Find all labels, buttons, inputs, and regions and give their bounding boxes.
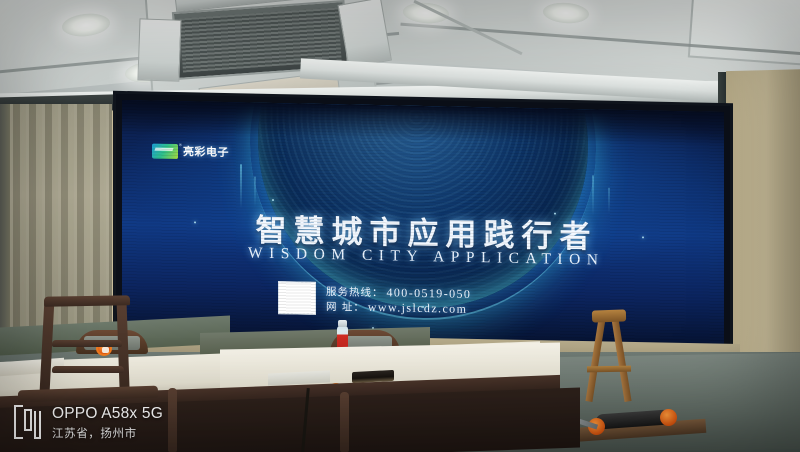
light-ray <box>592 175 594 215</box>
light-ray <box>254 177 256 207</box>
brand-name: 亮彩电子 <box>183 143 229 160</box>
ceiling-panel-light <box>688 0 800 66</box>
hotline-label: 服务热线： <box>326 285 384 300</box>
led-screen-display: ® 亮彩电子 智慧城市应用践行者 WISDOM CITY APPLICATION… <box>122 100 724 350</box>
bottle-cap <box>338 320 347 327</box>
chair-slat <box>52 340 122 347</box>
logo-bar-left <box>14 405 23 439</box>
curtain-edge <box>0 104 10 362</box>
chair-slat <box>52 366 124 373</box>
contact-row: 网 址： www.jslcdz.com <box>326 299 471 317</box>
brand-logo: ® 亮彩电子 <box>152 143 229 161</box>
location-label: 江苏省，扬州市 <box>52 426 163 440</box>
roller-hub <box>660 409 677 426</box>
watermark-text: OPPO A58x 5G 江苏省，扬州市 <box>52 404 163 441</box>
easel-rung <box>587 366 631 373</box>
table-leg <box>168 388 177 452</box>
liangcai-logo-mark <box>152 143 178 159</box>
star-dot <box>272 199 274 201</box>
photo-scene: ® 亮彩电子 智慧城市应用践行者 WISDOM CITY APPLICATION… <box>0 0 800 452</box>
contact-lines: 服务热线： 400-0519-050 网 址： www.jslcdz.com <box>326 282 471 317</box>
ac-louver <box>137 18 181 81</box>
logo-bar-middle <box>24 409 32 431</box>
light-ray <box>240 164 242 208</box>
hotline-value: 400-0519-050 <box>387 285 472 301</box>
oppo-shot-on-icon <box>14 405 41 439</box>
chair-top-rail <box>44 295 130 306</box>
website-label: 网 址： <box>326 300 365 315</box>
light-ray <box>608 188 610 214</box>
website-value: www.jslcdz.com <box>368 300 467 316</box>
trademark-symbol: ® <box>179 142 182 147</box>
contact-block: 服务热线： 400-0519-050 网 址： www.jslcdz.com <box>278 281 471 318</box>
easel-top <box>592 309 626 322</box>
table-leg <box>340 392 349 452</box>
logo-bar-right <box>34 411 41 439</box>
camera-watermark: OPPO A58x 5G 江苏省，扬州市 <box>14 404 163 441</box>
qr-code <box>278 281 316 315</box>
contact-row: 服务热线： 400-0519-050 <box>326 284 471 302</box>
device-model-label: OPPO A58x 5G <box>52 404 163 423</box>
screen-top-shade <box>122 100 724 146</box>
